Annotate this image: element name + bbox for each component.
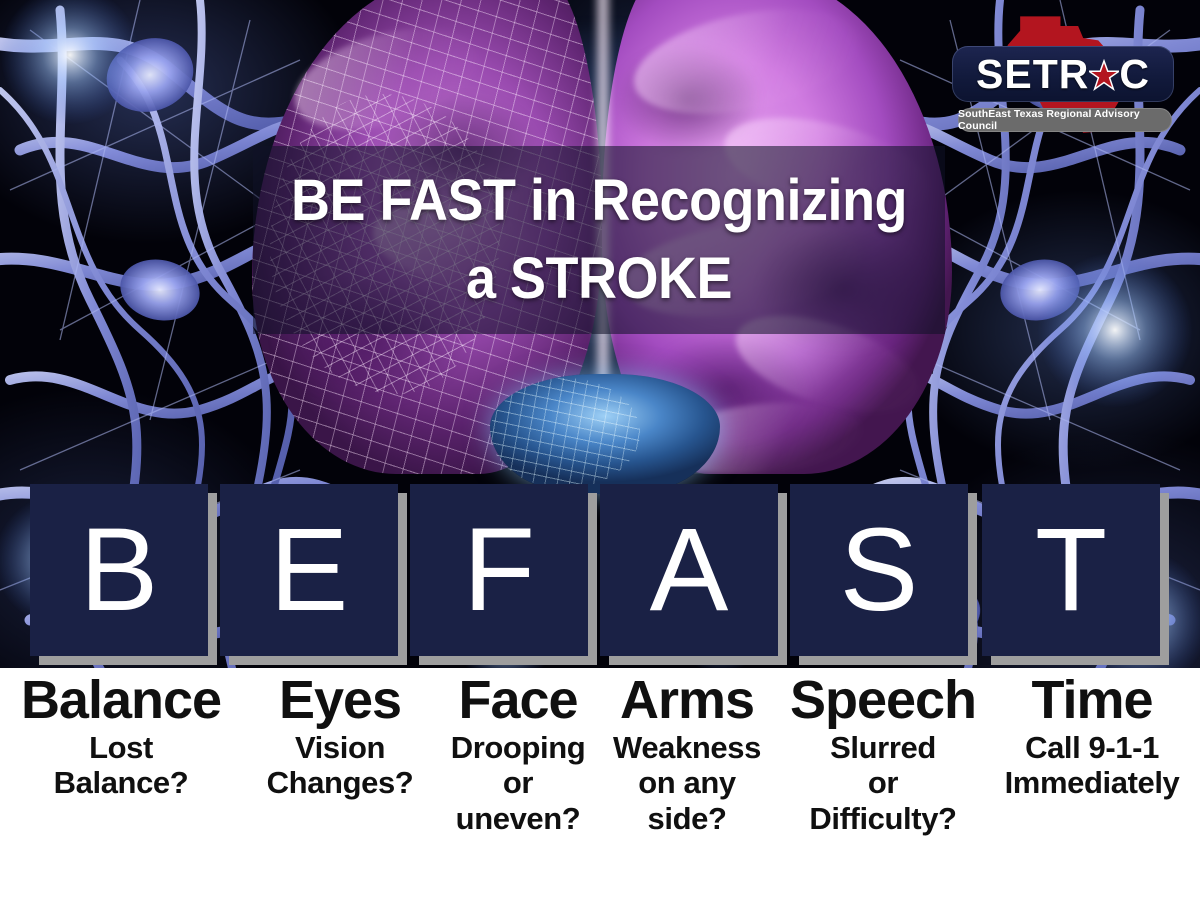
acronym-tile-s[interactable]: S [790, 484, 968, 656]
setrac-logo[interactable]: SETR C SouthEast Texas Regional Advisory… [948, 14, 1178, 136]
symptom-column-speech: Speech SlurredorDifficulty? [780, 672, 986, 836]
acronym-letter-e: E [270, 511, 349, 629]
symptom-detail-face: Droopingoruneven? [434, 730, 602, 836]
symptom-heading-time: Time [992, 672, 1192, 728]
symptom-heading-arms: Arms [602, 672, 772, 728]
symptom-column-arms: Arms Weaknesson anyside? [602, 672, 772, 836]
title-banner: BE FAST in Recognizing a STROKE [253, 146, 945, 334]
hero-image: SETR C SouthEast Texas Regional Advisory… [0, 0, 1200, 668]
symptom-detail-arms: Weaknesson anyside? [602, 730, 772, 836]
acronym-letter-s: S [840, 511, 919, 629]
symptom-heading-face: Face [434, 672, 602, 728]
acronym-tile-f[interactable]: F [410, 484, 588, 656]
symptom-heading-speech: Speech [780, 672, 986, 728]
symptom-detail-speech: SlurredorDifficulty? [780, 730, 986, 836]
acronym-tiles: B E F A S T [0, 484, 1200, 668]
logo-wordmark-part-1: SETR [976, 51, 1089, 98]
stroke-awareness-poster: SETR C SouthEast Texas Regional Advisory… [0, 0, 1200, 900]
symptom-detail-eyes: VisionChanges? [250, 730, 430, 801]
brainstem-wireframe [490, 378, 640, 488]
logo-wordmark: SETR C [952, 46, 1174, 102]
logo-wordmark-part-2: C [1119, 51, 1150, 98]
page-title-line-1: BE FAST in Recognizing [277, 172, 921, 230]
symptom-column-eyes: Eyes VisionChanges? [250, 672, 430, 801]
acronym-tile-e[interactable]: E [220, 484, 398, 656]
acronym-tile-a[interactable]: A [600, 484, 778, 656]
symptom-column-time: Time Call 9-1-1Immediately [992, 672, 1192, 801]
acronym-letter-b: B [80, 511, 159, 629]
acronym-letter-a: A [650, 511, 729, 629]
symptom-detail-balance: LostBalance? [16, 730, 226, 801]
acronym-letter-t: T [1035, 511, 1107, 629]
symptom-column-balance: Balance LostBalance? [16, 672, 226, 801]
logo-tagline: SouthEast Texas Regional Advisory Counci… [958, 108, 1172, 132]
acronym-letter-f: F [463, 511, 535, 629]
acronym-tile-t[interactable]: T [982, 484, 1160, 656]
acronym-tile-b[interactable]: B [30, 484, 208, 656]
star-icon [1089, 57, 1119, 91]
page-title-line-2: a STROKE [277, 250, 921, 308]
symptom-columns: Balance LostBalance? Eyes VisionChanges?… [0, 672, 1200, 900]
symptom-heading-balance: Balance [16, 672, 226, 728]
symptom-heading-eyes: Eyes [250, 672, 430, 728]
symptom-detail-time: Call 9-1-1Immediately [992, 730, 1192, 801]
symptom-column-face: Face Droopingoruneven? [434, 672, 602, 836]
